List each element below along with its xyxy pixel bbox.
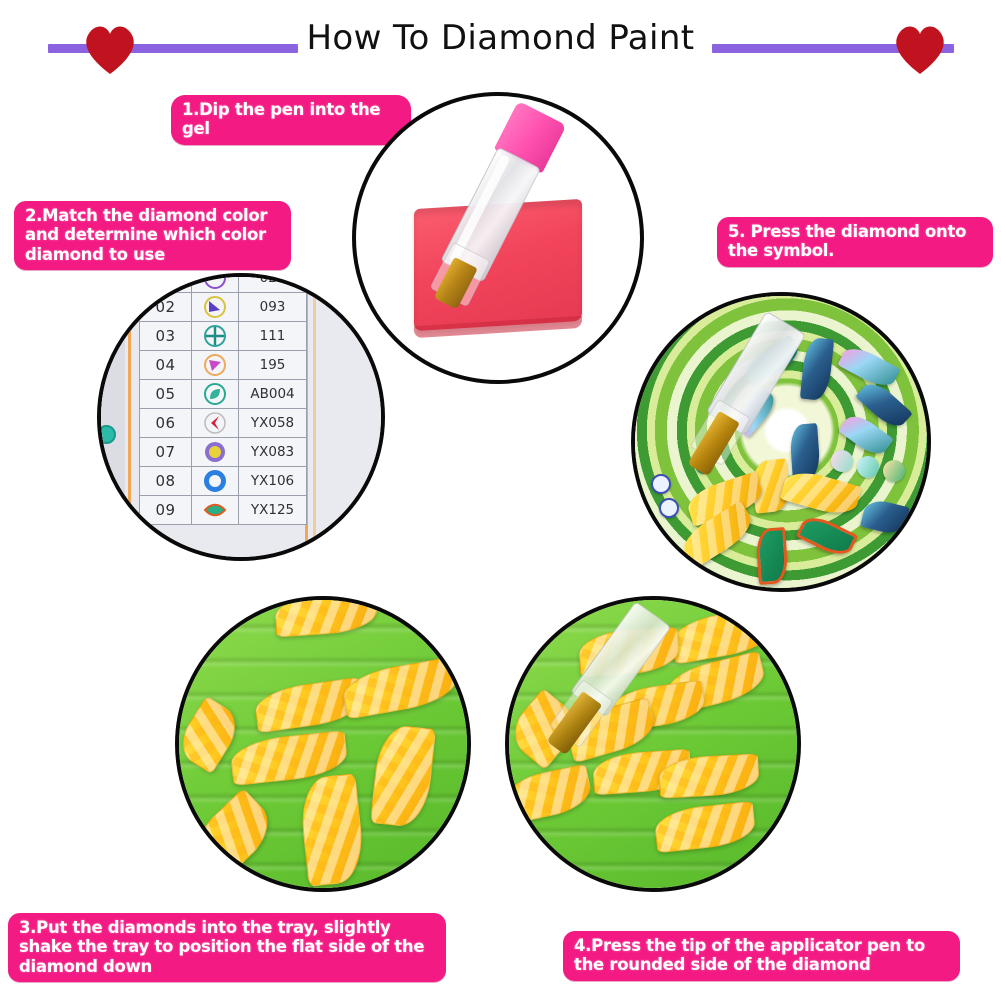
photo-content — [509, 600, 797, 888]
filled-dot-symbol-icon — [192, 438, 239, 467]
table-row: 09 YX125 — [140, 496, 307, 525]
placed-round-diamond — [831, 450, 853, 472]
row-number: 02 — [140, 293, 192, 322]
table-row: 05 AB004 — [140, 380, 307, 409]
pen-dipping-into-gel-photo — [352, 92, 644, 384]
marquise-symbol-icon — [192, 496, 239, 525]
ring-symbol-icon — [192, 467, 239, 496]
color-code: AB004 — [239, 380, 307, 409]
row-number: 06 — [140, 409, 192, 438]
row-number: 08 — [140, 467, 192, 496]
row-number: 05 — [140, 380, 192, 409]
orange-guide-line — [128, 277, 131, 557]
double-dot-circle-symbol-icon — [192, 273, 239, 293]
table-row: 01 020 — [140, 273, 307, 293]
photo-content — [356, 96, 640, 380]
color-chart-body: 01 020 — [140, 273, 307, 525]
orange-guide-line — [313, 277, 316, 557]
row-number: 07 — [140, 438, 192, 467]
photo-content — [635, 296, 927, 588]
step-3-label: 3.Put the diamonds into the tray, slight… — [8, 913, 446, 982]
infographic-page: How To Diamond Paint 1.Dip the pen into … — [0, 0, 1001, 1001]
table-row: 02 093 — [140, 293, 307, 322]
color-code: 111 — [239, 322, 307, 351]
table-row: 04 195 — [140, 351, 307, 380]
step-2-label: 2.Match the diamond color and determine … — [14, 201, 291, 270]
table-row: 03 111 — [140, 322, 307, 351]
row-number: 09 — [140, 496, 192, 525]
diamonds-in-tray-photo — [175, 596, 471, 892]
stray-diamond — [97, 425, 116, 444]
triangle-symbol-icon — [192, 351, 239, 380]
placed-round-diamond — [857, 456, 879, 478]
step-4-label: 4.Press the tip of the applicator pen to… — [563, 931, 960, 981]
pen-picking-up-diamond-photo — [505, 596, 801, 892]
placing-diamond-on-canvas-photo — [631, 292, 931, 592]
photo-content — [179, 600, 467, 888]
page-header: How To Diamond Paint — [0, 0, 1001, 90]
placed-round-diamond — [651, 474, 671, 494]
color-chart-legend-photo: 01 020 — [97, 273, 385, 561]
color-code: 195 — [239, 351, 307, 380]
color-code: 020 — [239, 273, 307, 293]
color-chart-table: 01 020 — [139, 273, 307, 525]
photo-content: 01 020 — [101, 277, 381, 557]
color-code: YX058 — [239, 409, 307, 438]
row-number: 01 — [140, 273, 192, 293]
step-5-label: 5. Press the diamond onto the symbol. — [717, 217, 993, 267]
color-code: YX125 — [239, 496, 307, 525]
row-number: 03 — [140, 322, 192, 351]
page-title: How To Diamond Paint — [0, 18, 1001, 58]
placed-round-diamond — [883, 460, 905, 482]
arrow-left-symbol-icon — [192, 409, 239, 438]
table-row: 08 YX106 — [140, 467, 307, 496]
table-row: 06 YX058 — [140, 409, 307, 438]
triangle-symbol-icon — [192, 293, 239, 322]
color-code: YX106 — [239, 467, 307, 496]
color-code: 093 — [239, 293, 307, 322]
placed-round-diamond — [659, 498, 679, 518]
table-row: 07 YX083 — [140, 438, 307, 467]
plus-symbol-icon — [192, 322, 239, 351]
leaf-symbol-icon — [192, 380, 239, 409]
row-number: 04 — [140, 351, 192, 380]
color-code: YX083 — [239, 438, 307, 467]
